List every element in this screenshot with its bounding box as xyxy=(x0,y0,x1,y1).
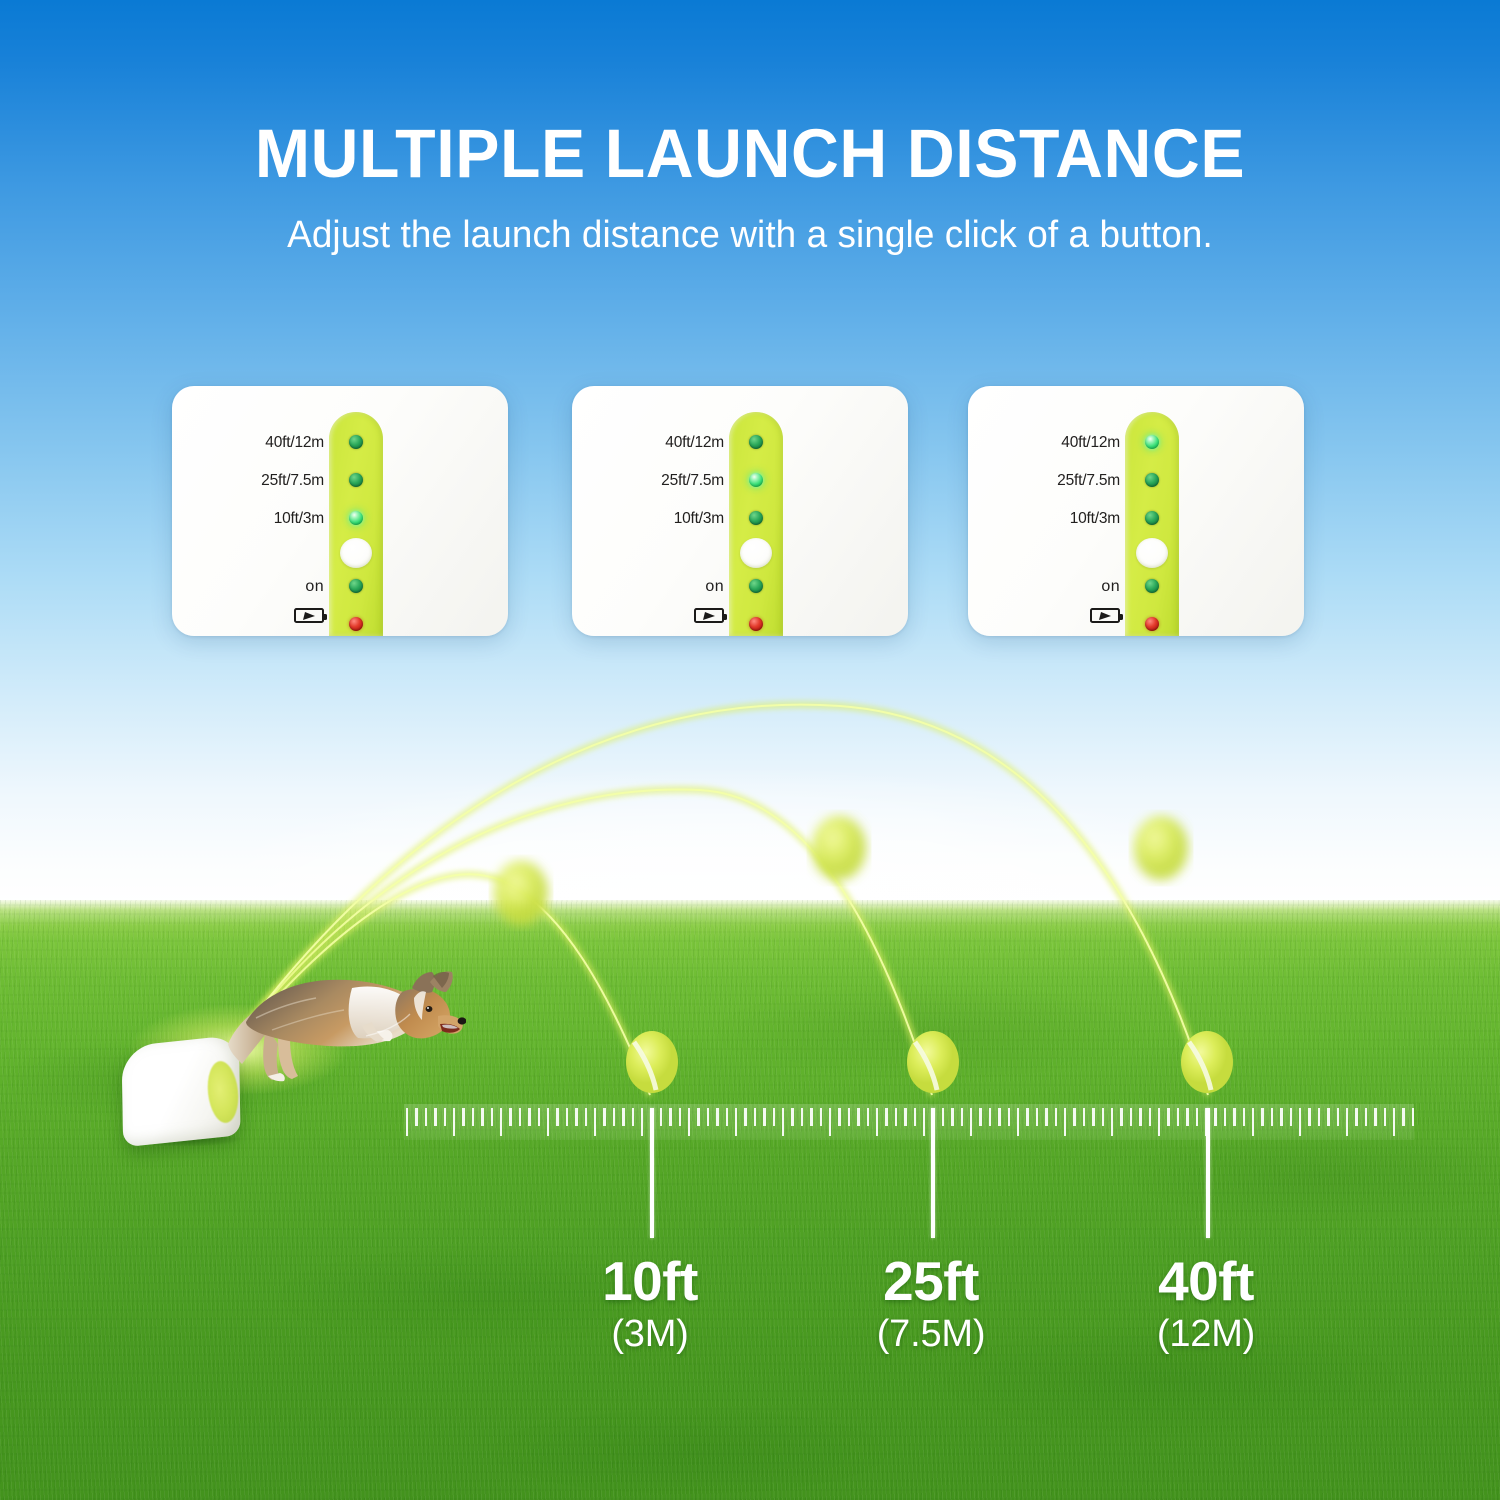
infographic-stage: MULTIPLE LAUNCH DISTANCE Adjust the laun… xyxy=(0,0,1500,1500)
led-40ft xyxy=(349,435,363,449)
battery-charging-icon xyxy=(1090,608,1120,623)
ruler-tick xyxy=(1073,1108,1075,1126)
ruler-tick xyxy=(773,1108,775,1126)
ruler-tick xyxy=(1177,1108,1179,1126)
led-battery xyxy=(749,617,763,631)
ruler-tick xyxy=(1374,1108,1376,1126)
ruler-tick xyxy=(1402,1108,1404,1126)
label-40ft: 40ft/12m xyxy=(968,434,1120,452)
led-10ft xyxy=(349,511,363,525)
ruler-tick xyxy=(1186,1108,1188,1126)
ruler-tick xyxy=(1337,1108,1339,1126)
ruler-tick xyxy=(1224,1108,1226,1126)
led-strip xyxy=(729,412,783,636)
control-panel-40ft: 40ft/12m 25ft/7.5m 10ft/3m on xyxy=(968,386,1304,636)
ruler-tick xyxy=(1149,1108,1151,1126)
panel-label-column: 40ft/12m 25ft/7.5m 10ft/3m on xyxy=(172,386,324,636)
ruler-tick xyxy=(444,1108,446,1126)
ruler-tick xyxy=(1318,1108,1320,1126)
ruler-tick xyxy=(453,1108,455,1136)
power-button[interactable] xyxy=(740,538,772,568)
battery-charging-icon xyxy=(294,608,324,623)
ruler-tick xyxy=(613,1108,615,1126)
ruler-tick xyxy=(1290,1108,1292,1126)
ruler-tick xyxy=(434,1108,436,1126)
ruler-tick xyxy=(585,1108,587,1126)
ruler-tick xyxy=(1158,1108,1160,1136)
ruler-tick xyxy=(744,1108,746,1126)
led-40ft xyxy=(1145,435,1159,449)
ruler-tick xyxy=(782,1108,784,1136)
ruler-tick xyxy=(1365,1108,1367,1126)
label-40ft: 40ft/12m xyxy=(572,434,724,452)
control-panel-10ft: 40ft/12m 25ft/7.5m 10ft/3m on xyxy=(172,386,508,636)
distance-25ft: 25ft (7.5M) xyxy=(781,1254,1081,1360)
led-power xyxy=(1145,579,1159,593)
ruler-tick xyxy=(688,1108,690,1136)
ruler-tick xyxy=(1017,1108,1019,1136)
ruler-tick xyxy=(876,1108,878,1136)
distance-10ft: 10ft (3M) xyxy=(500,1254,800,1360)
ruler-tick xyxy=(538,1108,540,1126)
led-10ft xyxy=(749,511,763,525)
ruler-tick xyxy=(951,1108,953,1126)
ruler-tick xyxy=(472,1108,474,1126)
ruler-tick xyxy=(500,1108,502,1136)
ruler-tick xyxy=(848,1108,850,1126)
distance-10ft-meters: (3M) xyxy=(500,1309,800,1360)
battery-icon-wrap xyxy=(968,608,1120,623)
ruler-tick xyxy=(707,1108,709,1126)
ruler-tick xyxy=(1102,1108,1104,1126)
ruler-tick xyxy=(1214,1108,1216,1126)
led-power xyxy=(349,579,363,593)
ruler-tick xyxy=(1243,1108,1245,1126)
ruler-tick xyxy=(481,1108,483,1126)
shetland-sheepdog-jumping xyxy=(216,952,466,1088)
label-40ft: 40ft/12m xyxy=(172,434,324,452)
led-power xyxy=(749,579,763,593)
ruler-tick xyxy=(632,1108,634,1126)
ruler-tick xyxy=(547,1108,549,1136)
ruler-tick xyxy=(1083,1108,1085,1126)
ruler-tick xyxy=(923,1108,925,1136)
ruler-tick xyxy=(801,1108,803,1126)
ruler-tick xyxy=(914,1108,916,1126)
ruler-tick xyxy=(1008,1108,1010,1126)
ruler-tick xyxy=(1327,1108,1329,1126)
distance-25ft-feet: 25ft xyxy=(781,1254,1081,1309)
ruler-tick xyxy=(810,1108,812,1126)
ruler-tick xyxy=(885,1108,887,1126)
control-panel-25ft: 40ft/12m 25ft/7.5m 10ft/3m on xyxy=(572,386,908,636)
ruler-tick xyxy=(660,1108,662,1126)
ruler-tick xyxy=(641,1108,643,1136)
distance-40ft: 40ft (12M) xyxy=(1056,1254,1356,1360)
led-strip xyxy=(329,412,383,636)
label-25ft: 25ft/7.5m xyxy=(572,472,724,490)
power-button[interactable] xyxy=(1136,538,1168,568)
ruler-tick xyxy=(1299,1108,1301,1136)
ruler-tick xyxy=(1026,1108,1028,1126)
led-battery xyxy=(1145,617,1159,631)
ruler-tick xyxy=(603,1108,605,1126)
ruler-tick xyxy=(1261,1108,1263,1126)
label-on: on xyxy=(968,578,1120,596)
ruler-tick xyxy=(1036,1108,1038,1126)
dog-nose xyxy=(458,1017,466,1024)
ruler-tick xyxy=(1308,1108,1310,1126)
ruler-tick xyxy=(829,1108,831,1136)
label-25ft: 25ft/7.5m xyxy=(968,472,1120,490)
ruler-tick xyxy=(415,1108,417,1126)
led-25ft xyxy=(349,473,363,487)
horizon-glow xyxy=(0,600,1500,930)
ruler-tick xyxy=(726,1108,728,1126)
ruler-tick xyxy=(1280,1108,1282,1126)
ruler-tick xyxy=(904,1108,906,1126)
ruler-tick xyxy=(1111,1108,1113,1136)
ruler-tick xyxy=(716,1108,718,1126)
led-10ft xyxy=(1145,511,1159,525)
ruler-tick xyxy=(895,1108,897,1126)
ruler-tick xyxy=(1092,1108,1094,1126)
ruler-marker-10ft xyxy=(650,1108,654,1238)
page-subtitle: Adjust the launch distance with a single… xyxy=(23,214,1478,257)
measurement-ruler xyxy=(404,1108,1414,1140)
ruler-tick xyxy=(1130,1108,1132,1126)
ruler-tick xyxy=(1355,1108,1357,1126)
ruler-tick xyxy=(425,1108,427,1126)
ruler-tick xyxy=(622,1108,624,1126)
battery-icon-wrap xyxy=(572,608,724,623)
label-25ft: 25ft/7.5m xyxy=(172,472,324,490)
panel-label-column: 40ft/12m 25ft/7.5m 10ft/3m on xyxy=(572,386,724,636)
ruler-tick xyxy=(1412,1108,1414,1126)
led-25ft xyxy=(1145,473,1159,487)
distance-10ft-feet: 10ft xyxy=(500,1254,800,1309)
ruler-marker-25ft xyxy=(931,1108,935,1238)
ruler-tick xyxy=(1064,1108,1066,1136)
lightning-bolt-icon xyxy=(303,612,316,620)
ruler-tick xyxy=(519,1108,521,1126)
label-10ft: 10ft/3m xyxy=(172,510,324,528)
ruler-tick xyxy=(491,1108,493,1126)
ruler-tick xyxy=(820,1108,822,1126)
distance-40ft-meters: (12M) xyxy=(1056,1309,1356,1360)
ruler-tick xyxy=(838,1108,840,1126)
lightning-bolt-icon xyxy=(703,612,716,620)
ruler-tick xyxy=(942,1108,944,1126)
label-on: on xyxy=(172,578,324,596)
panel-label-column: 40ft/12m 25ft/7.5m 10ft/3m on xyxy=(968,386,1120,636)
ruler-tick xyxy=(697,1108,699,1126)
ruler-tick xyxy=(528,1108,530,1126)
ruler-tick xyxy=(998,1108,1000,1126)
ruler-tick xyxy=(1252,1108,1254,1136)
dog-eye-highlight xyxy=(427,1007,429,1009)
ruler-tick xyxy=(1055,1108,1057,1126)
ruler-tick xyxy=(1045,1108,1047,1126)
battery-charging-icon xyxy=(694,608,724,623)
label-10ft: 10ft/3m xyxy=(968,510,1120,528)
ruler-tick xyxy=(857,1108,859,1126)
ruler-tick xyxy=(594,1108,596,1136)
ruler-tick xyxy=(989,1108,991,1126)
led-battery xyxy=(349,617,363,631)
battery-icon-wrap xyxy=(172,608,324,623)
ruler-tick xyxy=(509,1108,511,1126)
dog-eye xyxy=(426,1006,433,1012)
ruler-tick xyxy=(735,1108,737,1136)
ruler-tick xyxy=(1167,1108,1169,1126)
ruler-tick xyxy=(763,1108,765,1126)
distance-40ft-feet: 40ft xyxy=(1056,1254,1356,1309)
ruler-tick xyxy=(970,1108,972,1136)
ruler-tick xyxy=(1271,1108,1273,1126)
ruler-marker-40ft xyxy=(1206,1108,1210,1238)
ruler-tick xyxy=(462,1108,464,1126)
ruler-tick xyxy=(1139,1108,1141,1126)
label-10ft: 10ft/3m xyxy=(572,510,724,528)
ruler-tick xyxy=(679,1108,681,1126)
ruler-tick xyxy=(566,1108,568,1126)
ruler-tick xyxy=(791,1108,793,1126)
distance-25ft-meters: (7.5M) xyxy=(781,1309,1081,1360)
ruler-tick xyxy=(754,1108,756,1126)
ruler-tick xyxy=(1384,1108,1386,1126)
lightning-bolt-icon xyxy=(1099,612,1112,620)
ruler-tick xyxy=(669,1108,671,1126)
ruler-tick xyxy=(1393,1108,1395,1136)
power-button[interactable] xyxy=(340,538,372,568)
ruler-tick xyxy=(867,1108,869,1126)
ruler-tick xyxy=(979,1108,981,1126)
ruler-tick xyxy=(556,1108,558,1126)
led-25ft xyxy=(749,473,763,487)
ruler-tick xyxy=(1196,1108,1198,1126)
ruler-tick xyxy=(406,1108,408,1136)
ruler-tick xyxy=(1346,1108,1348,1136)
page-title: MULTIPLE LAUNCH DISTANCE xyxy=(30,114,1470,193)
ruler-tick xyxy=(961,1108,963,1126)
label-on: on xyxy=(572,578,724,596)
led-40ft xyxy=(749,435,763,449)
ruler-tick xyxy=(575,1108,577,1126)
ruler-tick xyxy=(1120,1108,1122,1126)
ruler-tick xyxy=(1233,1108,1235,1126)
led-strip xyxy=(1125,412,1179,636)
